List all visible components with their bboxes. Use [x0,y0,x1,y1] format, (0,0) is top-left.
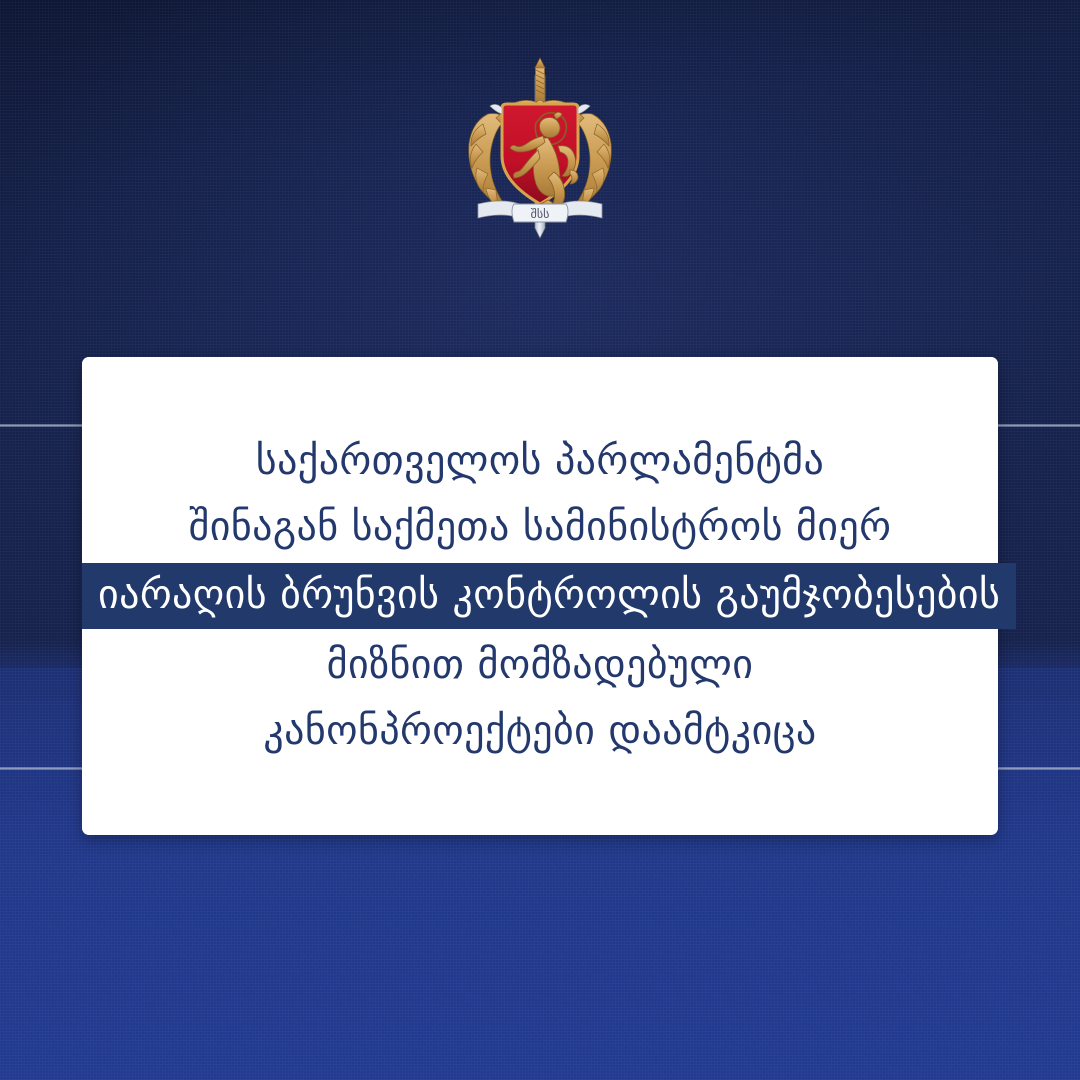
headline-line-2: შინაგან საქმეთა სამინისტროს მიერ [82,494,998,560]
ribbon-text: შსს [531,207,550,221]
announcement-graphic: შსს საქართველოს პარლამენტმა შინაგან საქმ… [0,0,1080,1080]
ribbon-banner: შსს [478,201,602,222]
headline-emphasis-row: იარაღის ბრუნვის კონტროლის გაუმჯობესების [82,560,998,632]
headline-block: საქართველოს პარლამენტმა შინაგან საქმეთა … [82,428,998,764]
headline-line-3-highlighted: იარაღის ბრუნვის კონტროლის გაუმჯობესების [82,563,1016,629]
headline-line-4: მიზნით მომზადებული [82,632,998,698]
headline-line-1: საქართველოს პარლამენტმა [82,428,998,494]
headline-card: საქართველოს პარლამენტმა შინაგან საქმეთა … [82,357,998,835]
mia-georgia-coat-of-arms-icon: შსს [450,52,630,242]
headline-line-5: კანონპროექტები დაამტკიცა [82,698,998,764]
